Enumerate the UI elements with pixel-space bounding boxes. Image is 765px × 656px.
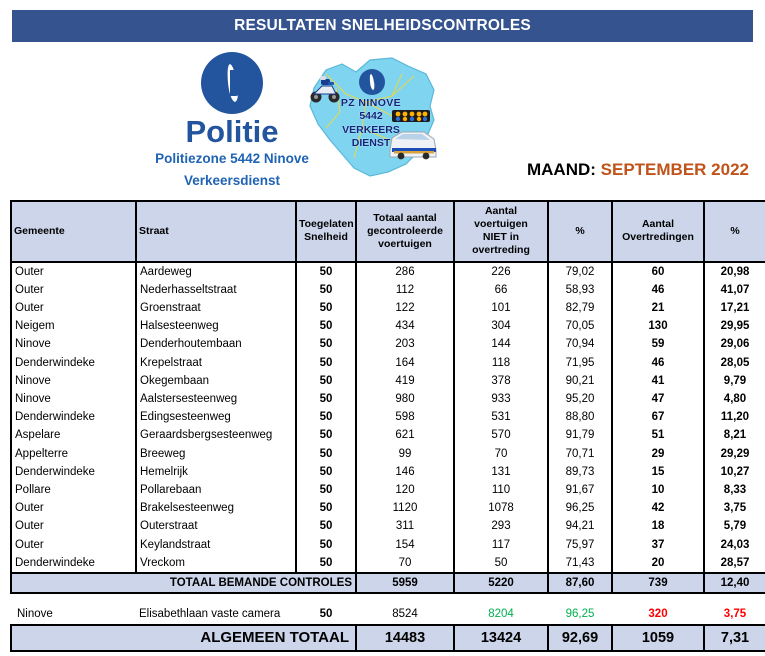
cell-niet-overtreding: 117: [454, 536, 548, 554]
cell-pct-overtredingen: 10,27: [704, 463, 765, 481]
totals-totaal: 14483: [356, 625, 454, 651]
table-row: DenderwindekeKrepelstraat5016411871,9546…: [11, 354, 765, 372]
header-line-1: Aantal voertuigen: [474, 205, 528, 230]
cell-snelheid: 50: [296, 517, 356, 535]
table-row: OuterAardeweg5028622679,026020,98: [11, 262, 765, 281]
cell-pct-overtredingen: 4,80: [704, 390, 765, 408]
cell-totaal: 434: [356, 317, 454, 335]
cell-pct-niet: 91,79: [548, 426, 612, 444]
cell-totaal: 99: [356, 445, 454, 463]
table-row: AppelterreBreeweg50997070,712929,29: [11, 445, 765, 463]
cell-niet-overtreding: 131: [454, 463, 548, 481]
cell-niet-overtreding: 8204: [454, 604, 548, 625]
table-row: PollarePollarebaan5012011091,67108,33: [11, 481, 765, 499]
cell-gemeente: Outer: [11, 299, 136, 317]
column-header-totaal-gecontroleerde-voertuigen: Totaal aantal gecontroleerde voertuigen: [356, 201, 454, 262]
cell-pct-overtredingen: 5,79: [704, 517, 765, 535]
cell-overtredingen: 320: [612, 604, 704, 625]
cell-niet-overtreding: 570: [454, 426, 548, 444]
cell-snelheid: 50: [296, 499, 356, 517]
cell-overtredingen: 67: [612, 408, 704, 426]
cell-pct-niet: 88,80: [548, 408, 612, 426]
cell-overtredingen: 42: [612, 499, 704, 517]
cell-straat: Keylandstraat: [136, 536, 296, 554]
cell-gemeente: Aspelare: [11, 426, 136, 444]
cell-straat: Denderhoutembaan: [136, 335, 296, 353]
month-label: MAAND: SEPTEMBER 2022: [527, 160, 749, 180]
police-lightbar-icon: [391, 106, 431, 126]
fixed-camera-table: Ninove Elisabethlaan vaste camera 50 852…: [10, 604, 765, 652]
header-line-3: voertuigen: [378, 238, 432, 250]
cell-pct-overtredingen: 28,57: [704, 554, 765, 573]
cell-gemeente: Outer: [11, 536, 136, 554]
page-title: RESULTATEN SNELHEIDSCONTROLES: [234, 17, 531, 35]
cell-totaal: 598: [356, 408, 454, 426]
cell-niet-overtreding: 226: [454, 262, 548, 281]
cell-totaal: 419: [356, 372, 454, 390]
cell-pct-overtredingen: 3,75: [704, 604, 765, 625]
cell-pct-niet: 94,21: [548, 517, 612, 535]
cell-gemeente: Outer: [11, 281, 136, 299]
cell-niet-overtreding: 66: [454, 281, 548, 299]
totals-row-algemeen: ALGEMEEN TOTAAL 14483 13424 92,69 1059 7…: [11, 625, 765, 651]
cell-gemeente: Ninove: [11, 390, 136, 408]
cell-gemeente: Appelterre: [11, 445, 136, 463]
cell-pct-niet: 96,25: [548, 499, 612, 517]
cell-straat: Elisabethlaan vaste camera: [136, 604, 296, 625]
cell-snelheid: 50: [296, 408, 356, 426]
table-header-row: Gemeente Straat Toegelaten Snelheid Tota…: [11, 201, 765, 262]
cell-niet-overtreding: 378: [454, 372, 548, 390]
header-line-1: Aantal: [642, 218, 674, 230]
cell-snelheid: 50: [296, 481, 356, 499]
cell-niet-overtreding: 118: [454, 354, 548, 372]
cell-pct-overtredingen: 28,05: [704, 354, 765, 372]
cell-totaal: 203: [356, 335, 454, 353]
totals-niet: 13424: [454, 625, 548, 651]
table-row: NinoveOkegembaan5041937890,21419,79: [11, 372, 765, 390]
cell-totaal: 164: [356, 354, 454, 372]
cell-pct-niet: 91,67: [548, 481, 612, 499]
cell-pct-niet: 96,25: [548, 604, 612, 625]
cell-straat: Aardeweg: [136, 262, 296, 281]
cell-overtredingen: 20: [612, 554, 704, 573]
cell-totaal: 122: [356, 299, 454, 317]
cell-gemeente: Denderwindeke: [11, 408, 136, 426]
cell-pct-overtredingen: 17,21: [704, 299, 765, 317]
cell-pct-niet: 79,02: [548, 262, 612, 281]
column-header-toegelaten-snelheid: Toegelaten Snelheid: [296, 201, 356, 262]
totals-pct-niet: 92,69: [548, 625, 612, 651]
page-title-bar: RESULTATEN SNELHEIDSCONTROLES: [12, 10, 753, 42]
cell-snelheid: 50: [296, 299, 356, 317]
cell-totaal: 621: [356, 426, 454, 444]
cell-overtredingen: 15: [612, 463, 704, 481]
table-row-camera: Ninove Elisabethlaan vaste camera 50 852…: [11, 604, 765, 625]
cell-overtredingen: 46: [612, 281, 704, 299]
cell-overtredingen: 37: [612, 536, 704, 554]
cell-straat: Outerstraat: [136, 517, 296, 535]
cell-pct-niet: 95,20: [548, 390, 612, 408]
column-header-percent-niet: %: [548, 201, 612, 262]
cell-gemeente: Ninove: [11, 335, 136, 353]
cell-straat: Groenstraat: [136, 299, 296, 317]
speed-check-results-table: Gemeente Straat Toegelaten Snelheid Tota…: [10, 200, 765, 594]
cell-gemeente: Outer: [11, 262, 136, 281]
table-row: DenderwindekeVreckom50705071,432028,57: [11, 554, 765, 573]
cell-pct-niet: 58,93: [548, 281, 612, 299]
cell-totaal: 1120: [356, 499, 454, 517]
cell-straat: Aalstersesteenweg: [136, 390, 296, 408]
cell-gemeente: Outer: [11, 499, 136, 517]
cell-overtredingen: 60: [612, 262, 704, 281]
cell-pct-overtredingen: 24,03: [704, 536, 765, 554]
table-row: NinoveDenderhoutembaan5020314470,945929,…: [11, 335, 765, 353]
header-line-2: NIET in: [483, 231, 519, 243]
table-row: OuterOuterstraat5031129394,21185,79: [11, 517, 765, 535]
cell-gemeente: Denderwindeke: [11, 463, 136, 481]
cell-pct-overtredingen: 9,79: [704, 372, 765, 390]
cell-gemeente: Denderwindeke: [11, 554, 136, 573]
cell-straat: Vreckom: [136, 554, 296, 573]
cell-niet-overtreding: 304: [454, 317, 548, 335]
cell-overtredingen: 41: [612, 372, 704, 390]
cell-pct-overtredingen: 29,95: [704, 317, 765, 335]
cell-totaal: 146: [356, 463, 454, 481]
totals-label-bemande: TOTAAL BEMANDE CONTROLES: [11, 573, 356, 593]
cell-snelheid: 50: [296, 554, 356, 573]
cell-pct-overtredingen: 20,98: [704, 262, 765, 281]
cell-pct-niet: 70,71: [548, 445, 612, 463]
cell-niet-overtreding: 110: [454, 481, 548, 499]
cell-overtredingen: 47: [612, 390, 704, 408]
cell-totaal: 70: [356, 554, 454, 573]
cell-snelheid: 50: [296, 317, 356, 335]
cell-pct-overtredingen: 29,29: [704, 445, 765, 463]
cell-totaal: 286: [356, 262, 454, 281]
cell-snelheid: 50: [296, 536, 356, 554]
cell-overtredingen: 46: [612, 354, 704, 372]
cell-pct-overtredingen: 3,75: [704, 499, 765, 517]
header-line-2: Snelheid: [304, 231, 348, 243]
table-row: AspelareGeraardsbergsesteenweg5062157091…: [11, 426, 765, 444]
cell-niet-overtreding: 933: [454, 390, 548, 408]
totals-overtredingen: 739: [612, 573, 704, 593]
cell-pct-niet: 71,95: [548, 354, 612, 372]
cell-gemeente: Denderwindeke: [11, 354, 136, 372]
cell-straat: Edingsesteenweg: [136, 408, 296, 426]
cell-gemeente: Neigem: [11, 317, 136, 335]
cell-snelheid: 50: [296, 354, 356, 372]
cell-pct-overtredingen: 41,07: [704, 281, 765, 299]
month-value-label: SEPTEMBER 2022: [601, 160, 749, 179]
cell-straat: Pollarebaan: [136, 481, 296, 499]
header-line-1: Toegelaten: [299, 218, 354, 230]
cell-straat: Krepelstraat: [136, 354, 296, 372]
cell-snelheid: 50: [296, 390, 356, 408]
column-header-aantal-overtredingen: Aantal Overtredingen: [612, 201, 704, 262]
cell-niet-overtreding: 50: [454, 554, 548, 573]
cell-overtredingen: 18: [612, 517, 704, 535]
table-row: NeigemHalsesteenweg5043430470,0513029,95: [11, 317, 765, 335]
cell-gemeente: Pollare: [11, 481, 136, 499]
cell-overtredingen: 10: [612, 481, 704, 499]
cell-overtredingen: 21: [612, 299, 704, 317]
column-header-straat: Straat: [136, 201, 296, 262]
cell-pct-niet: 70,05: [548, 317, 612, 335]
cell-gemeente: Ninove: [11, 372, 136, 390]
cell-totaal: 311: [356, 517, 454, 535]
cell-straat: Halsesteenweg: [136, 317, 296, 335]
table-row: DenderwindekeHemelrijk5014613189,731510,…: [11, 463, 765, 481]
cell-niet-overtreding: 531: [454, 408, 548, 426]
cell-pct-niet: 82,79: [548, 299, 612, 317]
column-header-percent-overtredingen: %: [704, 201, 765, 262]
cell-straat: Brakelsesteenweg: [136, 499, 296, 517]
table-row: OuterBrakelsesteenweg501120107896,25423,…: [11, 499, 765, 517]
cell-straat: Okegembaan: [136, 372, 296, 390]
cell-niet-overtreding: 1078: [454, 499, 548, 517]
header-line-2: Overtredingen: [622, 231, 694, 243]
totals-label-algemeen: ALGEMEEN TOTAAL: [11, 625, 356, 651]
cell-pct-overtredingen: 8,21: [704, 426, 765, 444]
cell-niet-overtreding: 101: [454, 299, 548, 317]
cell-pct-niet: 90,21: [548, 372, 612, 390]
table-row: NinoveAalstersesteenweg5098093395,20474,…: [11, 390, 765, 408]
table-row: OuterNederhasseltstraat501126658,934641,…: [11, 281, 765, 299]
header-line-3: overtreding: [472, 244, 530, 256]
politie-flame-logo: [201, 52, 263, 114]
cell-totaal: 112: [356, 281, 454, 299]
cell-snelheid: 50: [296, 426, 356, 444]
cell-totaal: 8524: [356, 604, 454, 625]
cell-snelheid: 50: [296, 281, 356, 299]
table-row: OuterKeylandstraat5015411775,973724,03: [11, 536, 765, 554]
cell-totaal: 980: [356, 390, 454, 408]
table-row: OuterGroenstraat5012210182,792117,21: [11, 299, 765, 317]
cell-straat: Nederhasseltstraat: [136, 281, 296, 299]
cell-snelheid: 50: [296, 262, 356, 281]
emblem-flame-icon: [359, 69, 385, 95]
cell-pct-niet: 89,73: [548, 463, 612, 481]
cell-pct-niet: 70,94: [548, 335, 612, 353]
cell-pct-niet: 75,97: [548, 536, 612, 554]
cell-straat: Geraardsbergsesteenweg: [136, 426, 296, 444]
police-car-icon: [388, 126, 438, 160]
cell-straat: Hemelrijk: [136, 463, 296, 481]
cell-pct-overtredingen: 11,20: [704, 408, 765, 426]
cell-pct-overtredingen: 8,33: [704, 481, 765, 499]
column-header-niet-in-overtreding: Aantal voertuigen NIET in overtreding: [454, 201, 548, 262]
month-key-label: MAAND:: [527, 160, 596, 179]
header-line-2: gecontroleerde: [367, 225, 443, 237]
totals-overtredingen: 1059: [612, 625, 704, 651]
table-header: Gemeente Straat Toegelaten Snelheid Tota…: [11, 201, 765, 262]
totals-niet: 5220: [454, 573, 548, 593]
branding-area: Politie Politiezone 5442 Ninove Verkeers…: [0, 48, 765, 190]
totals-row-bemande-controles: TOTAAL BEMANDE CONTROLES5959522087,60739…: [11, 573, 765, 593]
cell-overtredingen: 59: [612, 335, 704, 353]
cell-snelheid: 50: [296, 463, 356, 481]
ninove-zone-map-emblem: PZ NINOVE 5442 VERKEERS DIENST: [296, 54, 446, 182]
cell-snelheid: 50: [296, 372, 356, 390]
table-row: DenderwindekeEdingsesteenweg5059853188,8…: [11, 408, 765, 426]
cell-gemeente: Outer: [11, 517, 136, 535]
cell-snelheid: 50: [296, 335, 356, 353]
cell-niet-overtreding: 70: [454, 445, 548, 463]
cell-snelheid: 50: [296, 604, 356, 625]
cell-pct-niet: 71,43: [548, 554, 612, 573]
cell-overtredingen: 29: [612, 445, 704, 463]
police-motorcycle-icon: [308, 74, 342, 104]
column-header-gemeente: Gemeente: [11, 201, 136, 262]
totals-pct-niet: 87,60: [548, 573, 612, 593]
table-body: OuterAardeweg5028622679,026020,98OuterNe…: [11, 262, 765, 594]
cell-niet-overtreding: 293: [454, 517, 548, 535]
totals-pct-overtredingen: 7,31: [704, 625, 765, 651]
cell-totaal: 120: [356, 481, 454, 499]
cell-overtredingen: 130: [612, 317, 704, 335]
cell-pct-overtredingen: 29,06: [704, 335, 765, 353]
cell-overtredingen: 51: [612, 426, 704, 444]
totals-pct-overtredingen: 12,40: [704, 573, 765, 593]
cell-niet-overtreding: 144: [454, 335, 548, 353]
header-line-1: Totaal aantal: [373, 212, 436, 224]
cell-straat: Breeweg: [136, 445, 296, 463]
totals-totaal: 5959: [356, 573, 454, 593]
cell-totaal: 154: [356, 536, 454, 554]
cell-snelheid: 50: [296, 445, 356, 463]
cell-gemeente: Ninove: [11, 604, 136, 625]
